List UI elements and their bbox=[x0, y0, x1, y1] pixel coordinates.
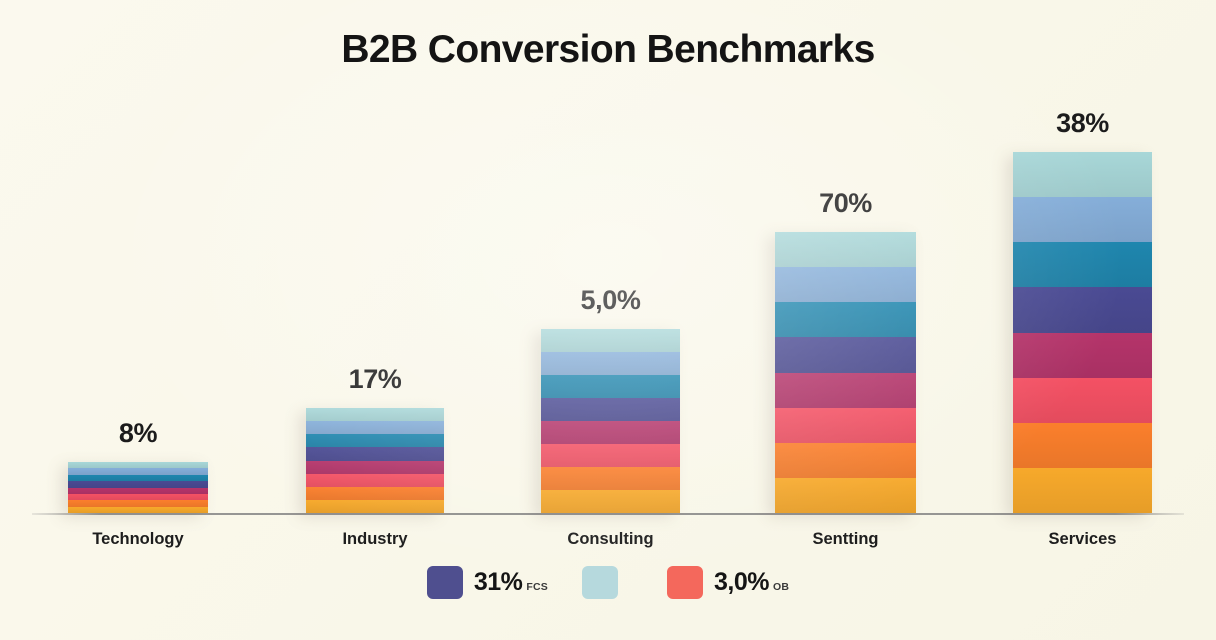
bar-segment bbox=[775, 478, 916, 513]
bar-segment bbox=[775, 373, 916, 408]
legend-swatch-icon-1 bbox=[582, 566, 618, 599]
bar-value-label-1: 17% bbox=[349, 364, 402, 395]
category-label-1: Industry bbox=[342, 530, 407, 549]
bar-segment bbox=[775, 302, 916, 337]
bar-value-label-0: 8% bbox=[119, 418, 157, 449]
chart-canvas: B2B Conversion Benchmarks 8% Technology … bbox=[0, 0, 1216, 640]
bar-segment bbox=[541, 467, 680, 490]
legend-value-0: 31% bbox=[474, 568, 523, 597]
bar-segment bbox=[1013, 423, 1152, 468]
legend-swatch-icon-2 bbox=[667, 566, 703, 599]
bar-group-2[interactable]: 5,0% Consulting bbox=[541, 0, 680, 640]
category-label-0: Technology bbox=[92, 530, 183, 549]
legend-item-0[interactable]: 31% FCS bbox=[427, 566, 548, 599]
bar-segment bbox=[775, 267, 916, 302]
bar-segment bbox=[306, 447, 444, 460]
bar-segment bbox=[1013, 468, 1152, 513]
bar-segment bbox=[541, 398, 680, 421]
bar-segment bbox=[1013, 333, 1152, 378]
bar-segment bbox=[775, 443, 916, 478]
bar-segment bbox=[541, 375, 680, 398]
bar-segment bbox=[775, 408, 916, 443]
stacked-bar-4[interactable] bbox=[1013, 152, 1152, 513]
bar-group-3[interactable]: 70% Sentting bbox=[775, 0, 916, 640]
bar-segment bbox=[1013, 197, 1152, 242]
stacked-bar-3[interactable] bbox=[775, 232, 916, 513]
bar-segment bbox=[541, 352, 680, 375]
bar-segment bbox=[541, 329, 680, 352]
bar-value-label-4: 38% bbox=[1056, 108, 1109, 139]
bar-segment bbox=[306, 421, 444, 434]
bar-group-1[interactable]: 17% Industry bbox=[306, 0, 444, 640]
category-label-4: Services bbox=[1049, 530, 1117, 549]
bar-value-label-2: 5,0% bbox=[581, 285, 641, 316]
bar-segment bbox=[1013, 152, 1152, 197]
bar-segment bbox=[541, 444, 680, 467]
chart-legend: 31% FCS 3,0% OB bbox=[0, 566, 1216, 599]
legend-value-2: 3,0% bbox=[714, 568, 769, 597]
bar-group-4[interactable]: 38% Services bbox=[1013, 0, 1152, 640]
bar-segment bbox=[306, 408, 444, 421]
bar-segment bbox=[306, 500, 444, 513]
legend-swatch-icon-0 bbox=[427, 566, 463, 599]
legend-item-1[interactable] bbox=[582, 566, 633, 599]
bar-segment bbox=[775, 232, 916, 267]
bar-segment bbox=[1013, 378, 1152, 423]
bar-value-label-3: 70% bbox=[819, 188, 872, 219]
legend-item-2[interactable]: 3,0% OB bbox=[667, 566, 789, 599]
stacked-bar-2[interactable] bbox=[541, 329, 680, 513]
bar-segment bbox=[306, 474, 444, 487]
stacked-bar-1[interactable] bbox=[306, 408, 444, 513]
bar-segment bbox=[541, 421, 680, 444]
bar-segment bbox=[306, 461, 444, 474]
legend-sub-0: FCS bbox=[526, 581, 548, 593]
bar-segment bbox=[541, 490, 680, 513]
x-axis-baseline bbox=[32, 513, 1184, 515]
legend-text-2: 3,0% OB bbox=[714, 568, 789, 597]
stacked-bar-0[interactable] bbox=[68, 462, 208, 513]
category-label-2: Consulting bbox=[567, 530, 653, 549]
bar-segment bbox=[775, 337, 916, 372]
legend-sub-2: OB bbox=[773, 581, 789, 593]
bar-segment bbox=[306, 434, 444, 447]
legend-text-0: 31% FCS bbox=[474, 568, 548, 597]
bar-segment bbox=[1013, 287, 1152, 332]
category-label-3: Sentting bbox=[813, 530, 879, 549]
chart-title: B2B Conversion Benchmarks bbox=[0, 28, 1216, 72]
bar-segment bbox=[1013, 242, 1152, 287]
plot-area: 8% Technology 17% Industry 5,0% Consulti… bbox=[0, 0, 1216, 640]
bar-segment bbox=[306, 487, 444, 500]
bar-group-0[interactable]: 8% Technology bbox=[68, 0, 208, 640]
